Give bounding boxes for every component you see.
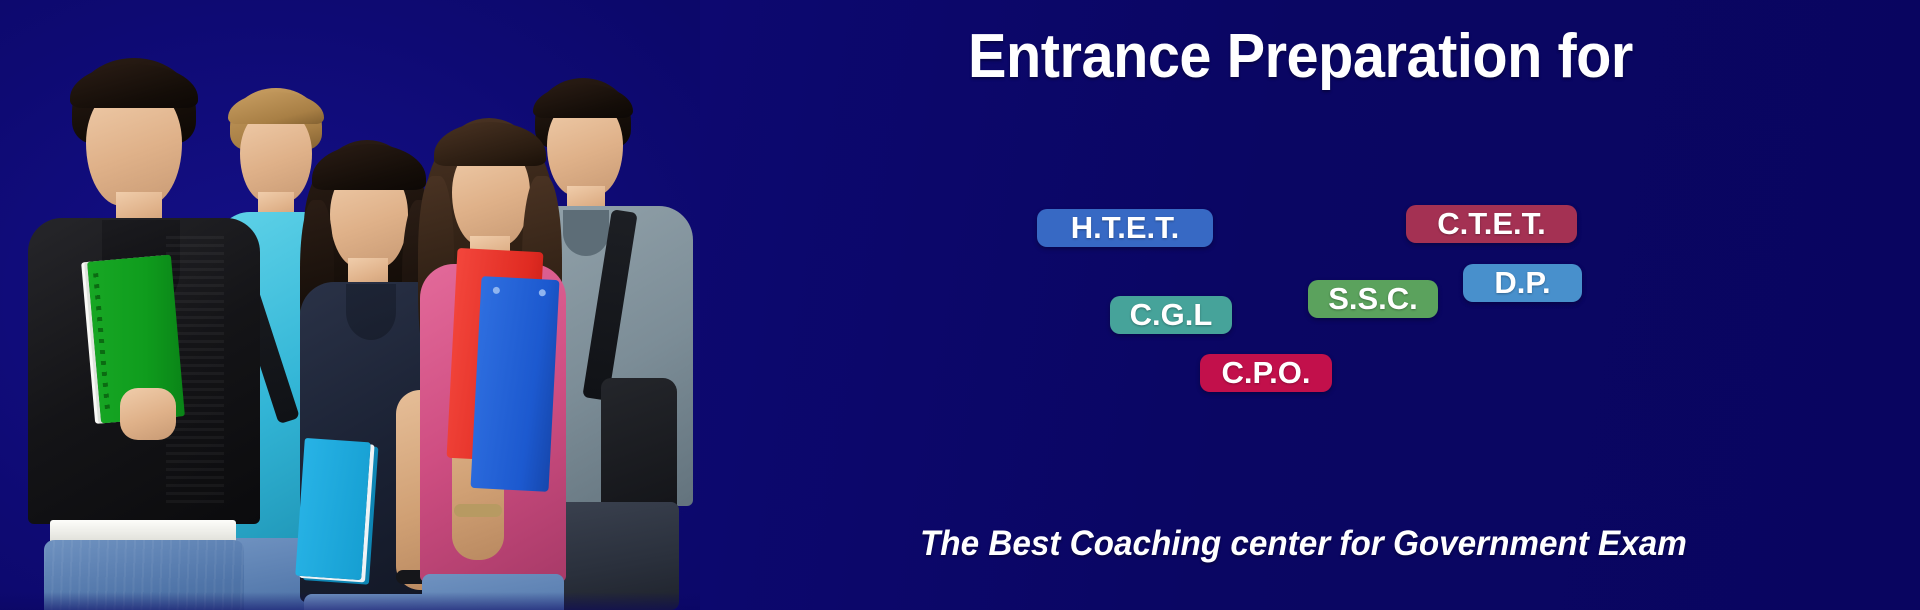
badge-ctet[interactable]: C.T.E.T.	[1406, 205, 1577, 243]
badge-dp[interactable]: D.P.	[1463, 264, 1582, 302]
badge-cgl[interactable]: C.G.L	[1110, 296, 1232, 334]
tagline: The Best Coaching center for Government …	[920, 524, 1775, 564]
exam-badge-cluster: H.T.E.T. C.T.E.T. D.P. S.S.C. C.G.L C.P.…	[0, 0, 1920, 610]
badge-ssc[interactable]: S.S.C.	[1308, 280, 1438, 318]
badge-htet[interactable]: H.T.E.T.	[1037, 209, 1213, 247]
badge-cpo[interactable]: C.P.O.	[1200, 354, 1332, 392]
entrance-preparation-banner: Entrance Preparation for H.T.E.T. C.T.E.…	[0, 0, 1920, 610]
